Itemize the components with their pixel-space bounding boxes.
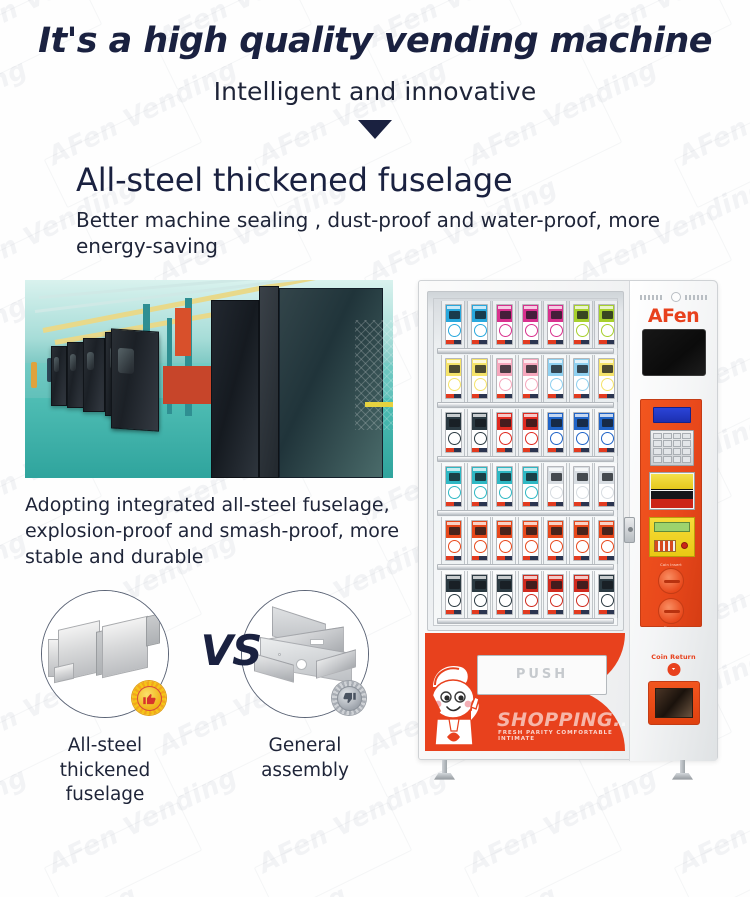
product-package [598, 520, 615, 561]
product-package [471, 304, 488, 345]
machine-product-slot[interactable] [594, 517, 618, 564]
machine-body: AFen [418, 280, 718, 760]
page-subtitle: Intelligent and innovative [0, 77, 750, 106]
shopping-tagline: FRESH PARITY COMFORTABLE INTIMATE [498, 730, 625, 742]
bill-acceptor[interactable] [649, 472, 695, 510]
machine-shelves [433, 298, 618, 626]
photo-caption: Adopting integrated all-steel fuselage, … [25, 492, 410, 571]
machine-product-slot[interactable] [594, 355, 618, 402]
product-package [573, 574, 590, 615]
product-package [547, 466, 564, 507]
comparison-item-all-steel: All-steel thickened fuselage [31, 590, 179, 807]
speaker-grille-icon [685, 295, 707, 300]
machine-product-slot[interactable] [569, 463, 593, 510]
machine-product-slot[interactable] [543, 463, 567, 510]
machine-product-slot[interactable] [518, 409, 542, 456]
machine-branding-panel: PUSH SHOPPING...... FRESH PARITY COMFORT… [425, 633, 625, 751]
machine-product-slot[interactable] [518, 355, 542, 402]
hero-section: It's a high quality vending machine Inte… [0, 0, 750, 139]
photo-cabinet-large [211, 300, 259, 478]
product-package [445, 412, 462, 453]
card-reader[interactable] [649, 517, 695, 557]
coin-slot[interactable]: Coin Insert [658, 568, 684, 594]
machine-control-column: AFen [629, 281, 717, 761]
machine-product-slot[interactable] [543, 571, 567, 618]
comparison-label: All-steel thickened fuselage [31, 734, 179, 807]
machine-product-slot[interactable] [543, 517, 567, 564]
machine-shelf-row [437, 409, 614, 462]
machine-product-slot[interactable] [594, 301, 618, 348]
photo-cabinet [111, 328, 159, 431]
coin-return-label: Coin Return [630, 653, 717, 661]
machine-product-slot[interactable] [441, 409, 465, 456]
thumbs-down-badge [332, 681, 366, 715]
factory-photo [25, 280, 393, 478]
product-package [598, 358, 615, 399]
coin-slot[interactable]: Change [658, 598, 684, 624]
product-package [496, 574, 513, 615]
watermark-text: AFen Vending [364, 880, 562, 897]
watermark-text: AFen Vending [0, 880, 142, 897]
photo-orange-rig [175, 308, 191, 356]
machine-product-slot[interactable] [518, 571, 542, 618]
comparison-image-frame [41, 590, 169, 718]
machine-product-slot[interactable] [467, 409, 491, 456]
feature-content: Adopting integrated all-steel fuselage, … [0, 280, 750, 791]
c-channel-steel-profile [46, 621, 166, 689]
product-package [573, 466, 590, 507]
payment-panel: Coin Insert Change [640, 399, 702, 627]
machine-shelf-row [437, 517, 614, 570]
machine-product-slot[interactable] [569, 571, 593, 618]
machine-product-slot[interactable] [518, 463, 542, 510]
left-column: Adopting integrated all-steel fuselage, … [0, 280, 410, 791]
machine-product-slot[interactable] [441, 517, 465, 564]
product-package [522, 520, 539, 561]
machine-legs [418, 758, 718, 780]
photo-cabinet [51, 346, 67, 406]
photo-orange-panel [163, 366, 215, 404]
machine-product-slot[interactable] [492, 301, 516, 348]
shopping-text: SHOPPING...... [497, 709, 625, 731]
product-package [598, 412, 615, 453]
product-package [598, 304, 615, 345]
vending-machine-illustration: AFen [418, 280, 718, 780]
machine-product-slot[interactable] [543, 409, 567, 456]
product-package [547, 358, 564, 399]
watermark-text: AFen Vending [574, 880, 750, 897]
machine-product-slot[interactable] [569, 355, 593, 402]
machine-shelf-tray [437, 402, 614, 408]
machine-product-slot[interactable] [441, 301, 465, 348]
triangle-down-icon [358, 120, 392, 139]
machine-product-slot[interactable] [467, 571, 491, 618]
machine-product-slot[interactable] [569, 301, 593, 348]
photo-cabinet [83, 338, 105, 412]
speaker-grille-icon [640, 295, 662, 300]
comparison-section: All-steel thickened fuselage VS [25, 590, 405, 790]
machine-product-slot[interactable] [594, 409, 618, 456]
thumbs-up-icon [137, 686, 162, 711]
product-package [573, 358, 590, 399]
comparison-label: General assembly [231, 734, 379, 783]
product-package [471, 574, 488, 615]
photo-fence [355, 320, 393, 430]
machine-glass-display [427, 291, 624, 631]
machine-shelf-tray [437, 456, 614, 462]
product-page: AFen VendingAFen VendingAFen VendingAFen… [0, 0, 750, 897]
product-package [471, 358, 488, 399]
product-package [547, 520, 564, 561]
product-package [522, 574, 539, 615]
product-package [522, 358, 539, 399]
machine-product-slot[interactable] [492, 409, 516, 456]
push-label: PUSH [516, 667, 568, 682]
machine-shelf-row [437, 355, 614, 408]
product-package [573, 412, 590, 453]
machine-product-slot[interactable] [492, 517, 516, 564]
feature-description: Better machine sealing , dust-proof and … [76, 207, 676, 260]
machine-shelf-row [437, 301, 614, 354]
photo-hazard-stripe [365, 402, 393, 407]
coin-return-bin[interactable] [648, 681, 700, 725]
machine-product-slot[interactable] [518, 301, 542, 348]
product-package [471, 520, 488, 561]
product-package [522, 466, 539, 507]
machine-product-slot[interactable] [594, 463, 618, 510]
machine-shelf-tray [437, 618, 614, 624]
machine-brand-logo: AFen [630, 305, 717, 327]
product-package [496, 358, 513, 399]
comparison-item-general: General assembly [231, 590, 379, 783]
product-package [445, 520, 462, 561]
product-package [445, 358, 462, 399]
vs-label: VS [185, 626, 277, 675]
chevron-down-circle-icon [667, 663, 680, 676]
photo-worker [31, 362, 37, 388]
machine-product-slot[interactable] [492, 355, 516, 402]
product-package [547, 574, 564, 615]
machine-product-slot[interactable] [543, 301, 567, 348]
product-package [445, 574, 462, 615]
machine-shelf-tray [437, 348, 614, 354]
product-package [496, 466, 513, 507]
product-package [522, 304, 539, 345]
machine-product-slot[interactable] [594, 571, 618, 618]
page-title: It's a high quality vending machine [0, 22, 750, 61]
right-column: AFen [410, 280, 750, 780]
thumbs-up-badge [132, 681, 166, 715]
machine-product-slot[interactable] [467, 517, 491, 564]
watermark-tile [254, 802, 412, 897]
machine-product-slot[interactable] [441, 463, 465, 510]
photo-cabinet-edge [259, 286, 279, 478]
machine-product-slot[interactable] [467, 463, 491, 510]
watermark-tile [44, 802, 202, 897]
watermark-text: AFen Vending [154, 880, 352, 897]
feature-title: All-steel thickened fuselage [76, 161, 750, 199]
product-package [598, 574, 615, 615]
machine-product-slot[interactable] [569, 517, 593, 564]
product-package [496, 304, 513, 345]
product-package [547, 304, 564, 345]
watermark-tile [674, 802, 750, 897]
machine-product-slot[interactable] [467, 301, 491, 348]
machine-touchscreen[interactable] [642, 329, 706, 376]
machine-product-slot[interactable] [467, 355, 491, 402]
machine-shelf-tray [437, 564, 614, 570]
product-package [573, 304, 590, 345]
product-package [445, 304, 462, 345]
machine-product-slot[interactable] [492, 463, 516, 510]
product-package [598, 466, 615, 507]
door-lock-icon[interactable] [624, 517, 635, 543]
product-package [471, 466, 488, 507]
mascot-illustration [427, 657, 501, 747]
product-package [496, 412, 513, 453]
thumbs-down-icon [337, 686, 362, 711]
feature-section-header: All-steel thickened fuselage Better mach… [0, 139, 750, 260]
machine-product-slot[interactable] [441, 571, 465, 618]
machine-product-slot[interactable] [543, 355, 567, 402]
machine-shelf-tray [437, 510, 614, 516]
machine-shelf-row [437, 463, 614, 516]
product-package [573, 520, 590, 561]
watermark-tile [464, 802, 622, 897]
machine-product-slot[interactable] [518, 517, 542, 564]
product-package [547, 412, 564, 453]
camera-icon [671, 292, 681, 302]
product-package [471, 412, 488, 453]
product-package [496, 520, 513, 561]
panel-lcd-display [653, 407, 691, 423]
product-package [522, 412, 539, 453]
machine-shelf-row [437, 571, 614, 624]
machine-product-slot[interactable] [492, 571, 516, 618]
product-package [445, 466, 462, 507]
machine-product-slot[interactable] [569, 409, 593, 456]
panel-keypad[interactable] [650, 430, 694, 466]
machine-product-slot[interactable] [441, 355, 465, 402]
